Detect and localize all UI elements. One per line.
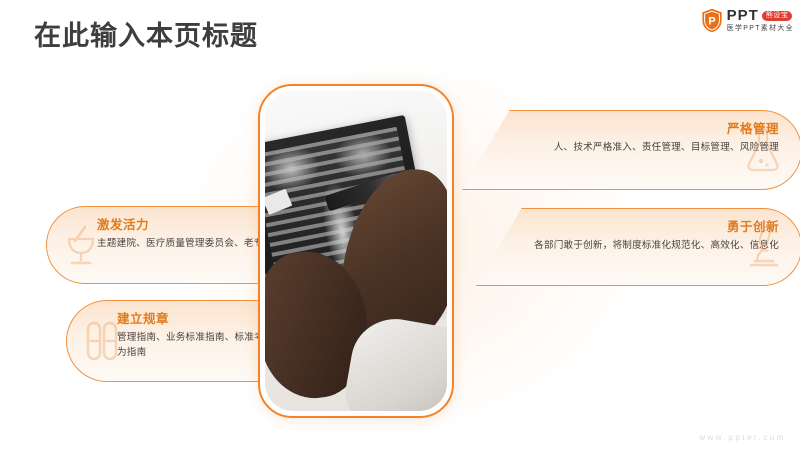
info-card-innovate-body: 勇于创新 各部门敢于创新，将制度标准化规范化、高效化、信息化 — [477, 209, 800, 265]
logo-text-block: PPT 熊设宝 医学PPT素材大全 — [727, 8, 794, 32]
center-image — [265, 91, 447, 411]
info-card-innovate[interactable]: 勇于创新 各部门敢于创新，将制度标准化规范化、高效化、信息化 — [476, 208, 800, 286]
page-title: 在此输入本页标题 — [34, 20, 258, 52]
info-card-innovate-text: 各部门敢于创新，将制度标准化规范化、高效化、信息化 — [529, 239, 779, 254]
info-card-innovate-heading: 勇于创新 — [529, 220, 779, 235]
brand-logo: P PPT 熊设宝 医学PPT素材大全 — [701, 5, 794, 35]
info-card-strict-heading: 严格管理 — [515, 122, 779, 137]
slide-canvas: 在此输入本页标题 P PPT 熊设宝 医学PPT素材大全 — [0, 0, 800, 450]
site-watermark: www.ppter.com — [699, 433, 786, 442]
logo-badge: 熊设宝 — [762, 11, 793, 21]
logo-tagline: 医学PPT素材大全 — [727, 25, 794, 32]
logo-brand-text: PPT — [727, 8, 759, 23]
svg-text:P: P — [708, 15, 715, 27]
info-card-strict-body: 严格管理 人、技术严格准入、责任管理、目标管理、风险管理 — [463, 111, 800, 167]
xray-photo — [265, 91, 447, 411]
center-image-frame — [258, 84, 454, 418]
info-card-strict[interactable]: 严格管理 人、技术严格准入、责任管理、目标管理、风险管理 — [462, 110, 800, 190]
info-card-strict-text: 人、技术严格准入、责任管理、目标管理、风险管理 — [515, 141, 779, 156]
shield-p-icon: P — [701, 8, 723, 33]
